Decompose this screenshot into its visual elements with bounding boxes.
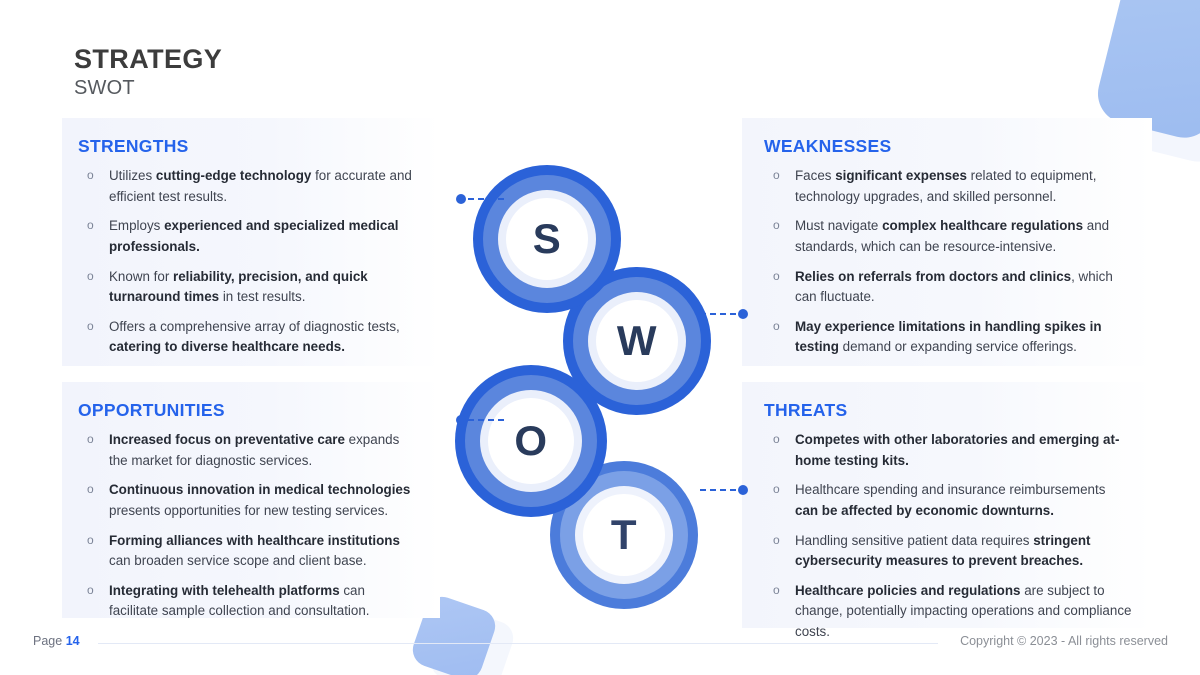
circle-core: T xyxy=(583,494,665,576)
bullet-marker-icon: o xyxy=(773,317,780,336)
bullet-text: Offers a comprehensive array of diagnost… xyxy=(109,319,400,334)
quadrant-heading-weaknesses: WEAKNESSES xyxy=(764,136,1132,157)
bullet-item: oCompetes with other laboratories and em… xyxy=(764,430,1132,471)
quadrant-strengths: STRENGTHS oUtilizes cutting-edge technol… xyxy=(62,118,440,366)
connector-strengths xyxy=(458,198,504,200)
circle-core: O xyxy=(488,398,574,484)
quadrant-threats: THREATS oCompetes with other laboratorie… xyxy=(742,382,1152,628)
bullet-text-emphasis: can be affected by economic downturns. xyxy=(795,503,1054,518)
bullet-item: oForming alliances with healthcare insti… xyxy=(78,531,414,572)
bullet-text: Known for xyxy=(109,269,173,284)
bullet-item: oFaces significant expenses related to e… xyxy=(764,166,1132,207)
bullet-item: oContinuous innovation in medical techno… xyxy=(78,480,414,521)
bullet-marker-icon: o xyxy=(87,581,94,600)
bullet-marker-icon: o xyxy=(87,216,94,235)
swot-letter-o: O xyxy=(514,420,547,462)
bullet-text-emphasis: Integrating with telehealth platforms xyxy=(109,583,340,598)
bullet-text-emphasis: Competes with other laboratories and eme… xyxy=(795,432,1119,468)
bullet-text: Faces xyxy=(795,168,835,183)
bullet-text: Employs xyxy=(109,218,164,233)
page-subtitle: SWOT xyxy=(74,76,222,100)
bullet-text-emphasis: Forming alliances with healthcare instit… xyxy=(109,533,400,548)
bullet-item: oOffers a comprehensive array of diagnos… xyxy=(78,317,414,358)
bullet-text: in test results. xyxy=(219,289,305,304)
circle-core: W xyxy=(596,300,678,382)
bullet-marker-icon: o xyxy=(87,317,94,336)
bullet-text: demand or expanding service offerings. xyxy=(839,339,1077,354)
bullet-marker-icon: o xyxy=(773,166,780,185)
bullet-text: Healthcare spending and insurance reimbu… xyxy=(795,482,1105,497)
bullet-list-weaknesses: oFaces significant expenses related to e… xyxy=(764,166,1132,358)
bullet-marker-icon: o xyxy=(87,480,94,499)
copyright-notice: Copyright © 2023 - All rights reserved xyxy=(960,634,1168,648)
bullet-marker-icon: o xyxy=(773,480,780,499)
bullet-marker-icon: o xyxy=(87,430,94,449)
circle-core: S xyxy=(506,198,588,280)
footer-divider xyxy=(98,643,938,644)
connector-dot xyxy=(456,415,466,425)
bullet-list-opportunities: oIncreased focus on preventative care ex… xyxy=(78,430,414,622)
bullet-item: oHandling sensitive patient data require… xyxy=(764,531,1132,572)
bullet-item: oIntegrating with telehealth platforms c… xyxy=(78,581,414,622)
bullet-marker-icon: o xyxy=(773,430,780,449)
page-word: Page xyxy=(33,634,62,648)
bullet-text-emphasis: Relies on referrals from doctors and cli… xyxy=(795,269,1071,284)
connector-threats xyxy=(700,489,746,491)
bullet-text-emphasis: Increased focus on preventative care xyxy=(109,432,345,447)
swot-letter-w: W xyxy=(617,320,657,362)
swot-circle-s: S xyxy=(473,165,621,313)
page-title: STRATEGY xyxy=(74,44,222,74)
bullet-marker-icon: o xyxy=(773,216,780,235)
bullet-text-emphasis: Healthcare policies and regulations xyxy=(795,583,1020,598)
bullet-text-emphasis: complex healthcare regulations xyxy=(882,218,1083,233)
bullet-marker-icon: o xyxy=(773,531,780,550)
bullet-marker-icon: o xyxy=(773,581,780,600)
bullet-marker-icon: o xyxy=(87,267,94,286)
bullet-text: can broaden service scope and client bas… xyxy=(109,553,367,568)
bullet-text-emphasis: significant expenses xyxy=(835,168,967,183)
connector-opportunities xyxy=(458,419,504,421)
quadrant-weaknesses: WEAKNESSES oFaces significant expenses r… xyxy=(742,118,1152,366)
bullet-item: oEmploys experienced and specialized med… xyxy=(78,216,414,257)
bullet-text: Must navigate xyxy=(795,218,882,233)
bullet-text: presents opportunities for new testing s… xyxy=(109,503,388,518)
swot-circle-o: O xyxy=(455,365,607,517)
bullet-marker-icon: o xyxy=(87,166,94,185)
connector-weaknesses xyxy=(700,313,746,315)
swot-circles-graphic: S W O T xyxy=(455,165,755,600)
bullet-item: oKnown for reliability, precision, and q… xyxy=(78,267,414,308)
swot-letter-t: T xyxy=(611,514,637,556)
slide-canvas: STRATEGY SWOT STRENGTHS oUtilizes cuttin… xyxy=(0,0,1200,675)
swot-letter-s: S xyxy=(533,218,562,260)
bullet-item: oRelies on referrals from doctors and cl… xyxy=(764,267,1132,308)
bullet-marker-icon: o xyxy=(87,531,94,550)
page-indicator: Page 14 xyxy=(33,634,80,648)
connector-dot xyxy=(738,485,748,495)
bullet-text-emphasis: catering to diverse healthcare needs. xyxy=(109,339,345,354)
connector-dot xyxy=(456,194,466,204)
bullet-list-strengths: oUtilizes cutting-edge technology for ac… xyxy=(78,166,414,358)
bullet-list-threats: oCompetes with other laboratories and em… xyxy=(764,430,1132,643)
quadrant-heading-strengths: STRENGTHS xyxy=(78,136,414,157)
bullet-text: Handling sensitive patient data requires xyxy=(795,533,1033,548)
connector-dot xyxy=(738,309,748,319)
bullet-text-emphasis: Continuous innovation in medical technol… xyxy=(109,482,410,497)
bullet-item: oUtilizes cutting-edge technology for ac… xyxy=(78,166,414,207)
bullet-text: Utilizes xyxy=(109,168,156,183)
quadrant-heading-threats: THREATS xyxy=(764,400,1132,421)
bullet-item: oMay experience limitations in handling … xyxy=(764,317,1132,358)
bullet-item: oIncreased focus on preventative care ex… xyxy=(78,430,414,471)
slide-header: STRATEGY SWOT xyxy=(74,44,222,100)
bullet-item: oMust navigate complex healthcare regula… xyxy=(764,216,1132,257)
page-number: 14 xyxy=(66,634,80,648)
bullet-marker-icon: o xyxy=(773,267,780,286)
bullet-item: oHealthcare spending and insurance reimb… xyxy=(764,480,1132,521)
quadrant-heading-opportunities: OPPORTUNITIES xyxy=(78,400,414,421)
bullet-text-emphasis: cutting-edge technology xyxy=(156,168,311,183)
quadrant-opportunities: OPPORTUNITIES oIncreased focus on preven… xyxy=(62,382,440,618)
